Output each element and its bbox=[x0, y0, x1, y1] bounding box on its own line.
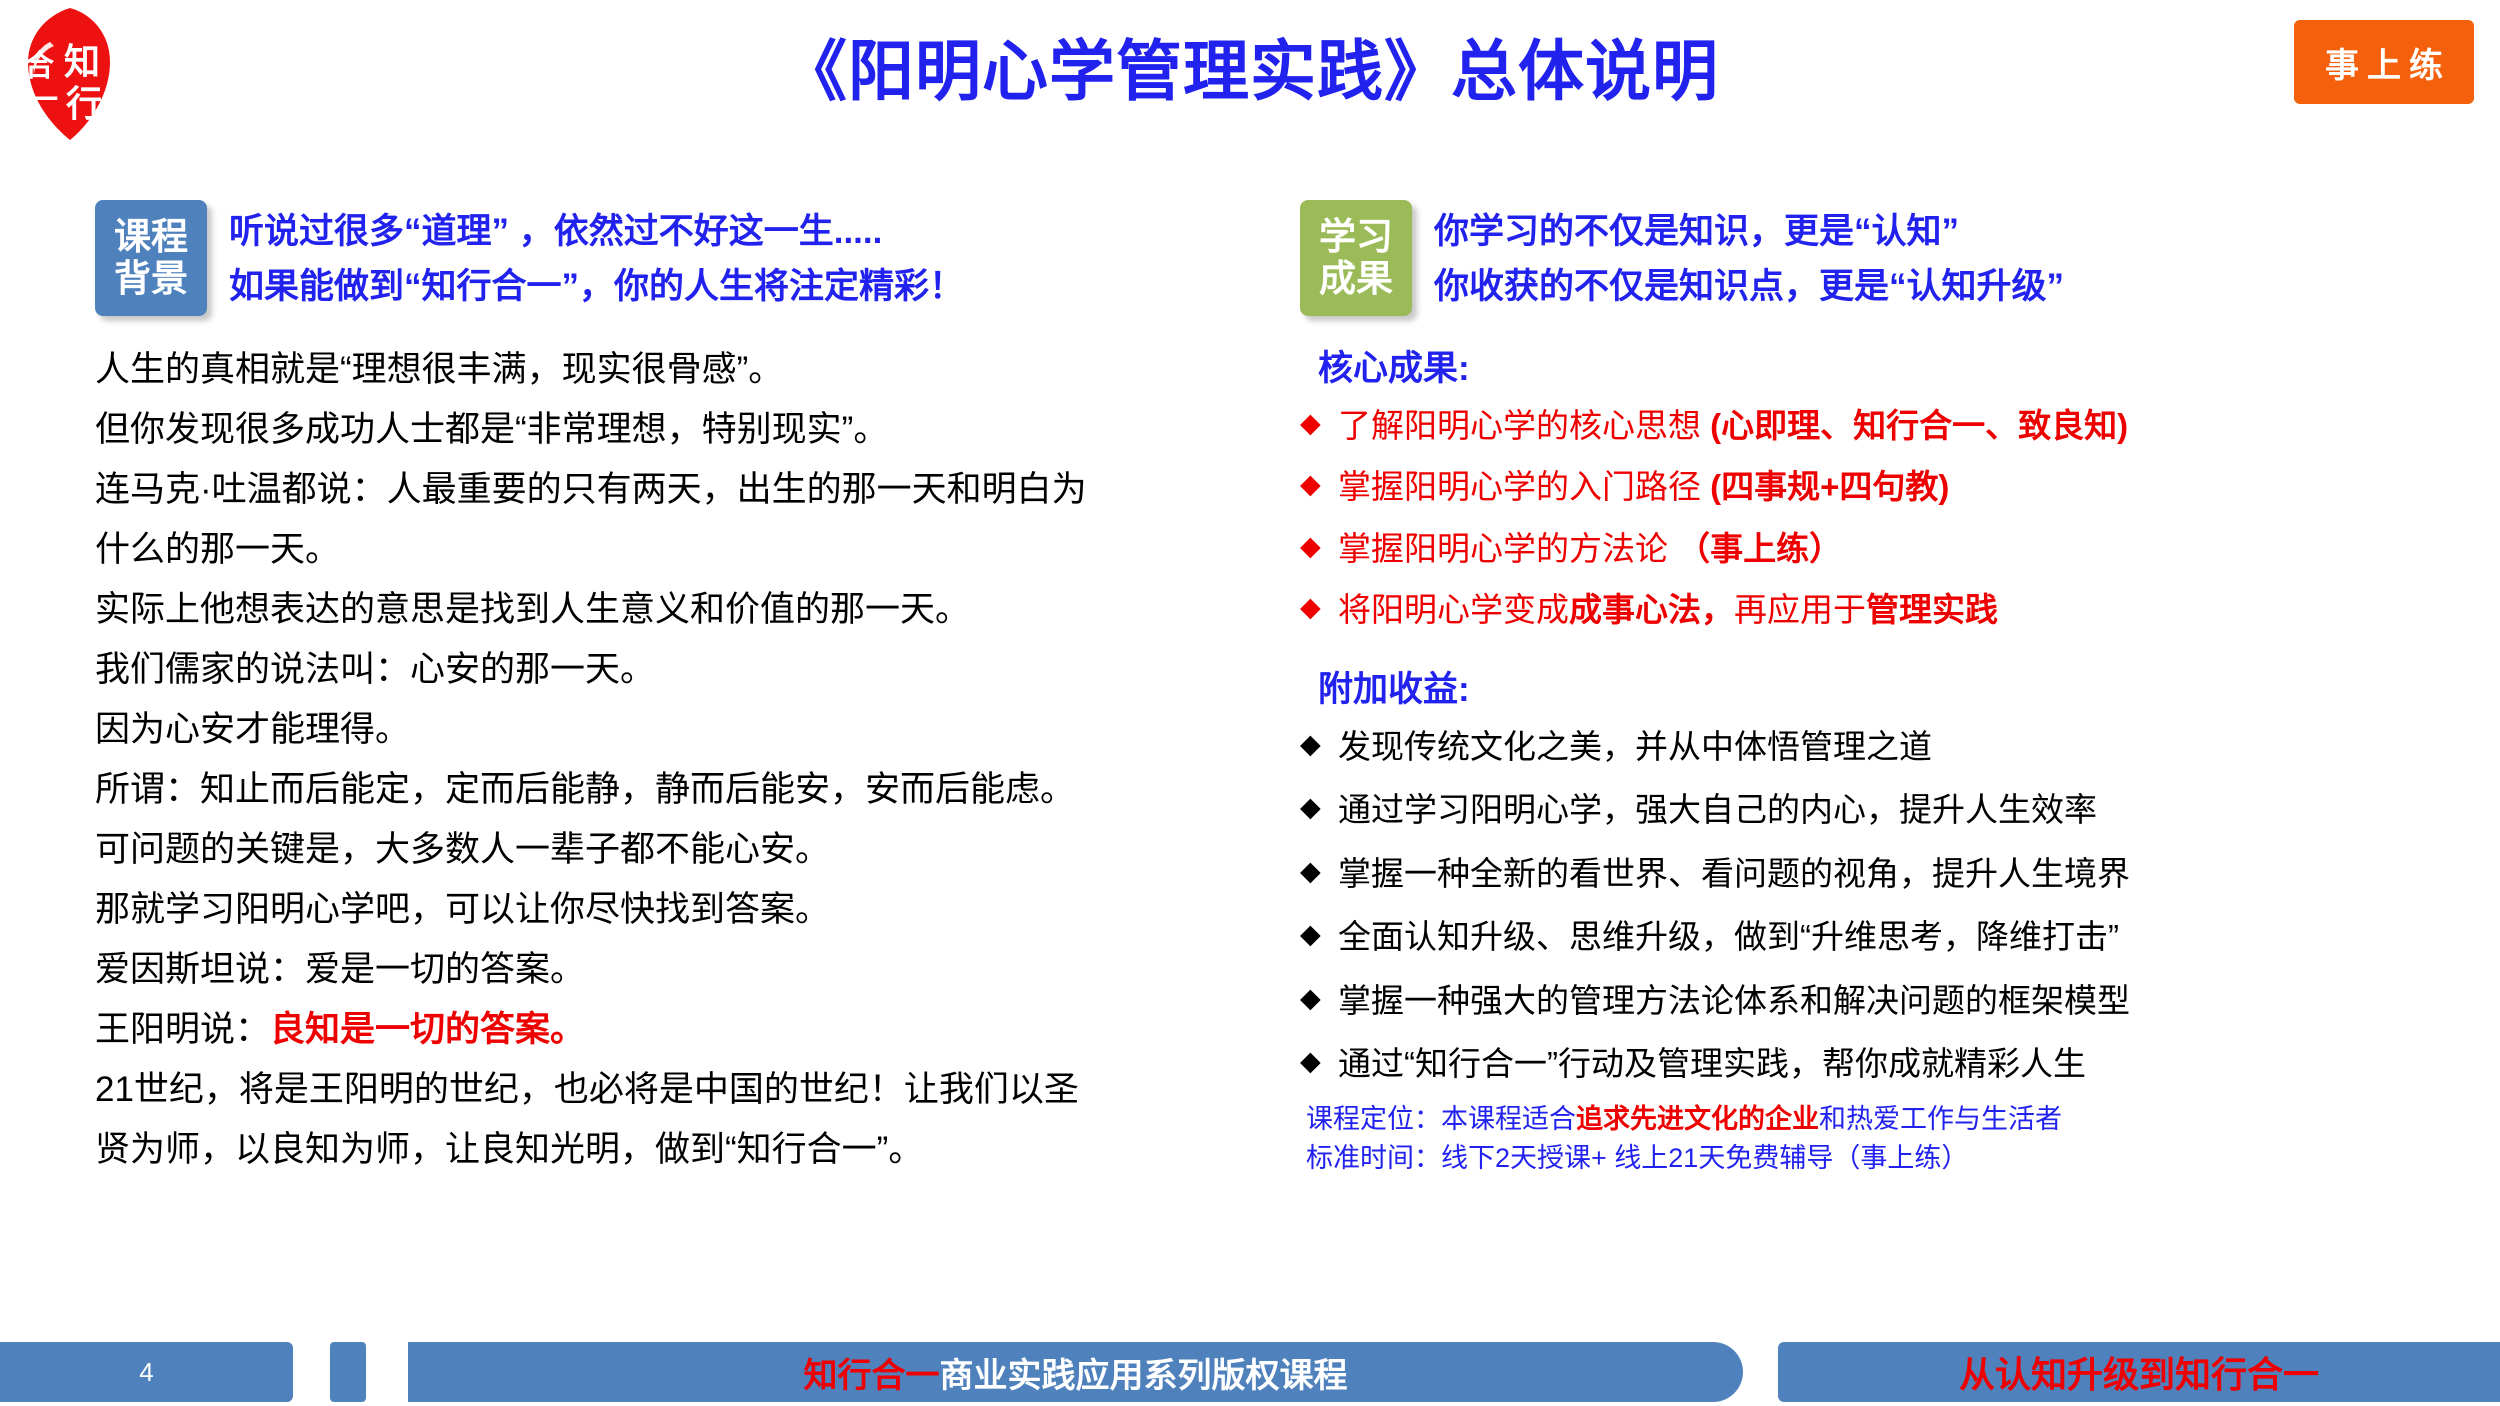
learning-outcome-header: 学习 成果 你学习的不仅是知识，更是“认知” 你收获的不仅是知识点，更是“认知升… bbox=[1300, 200, 2475, 316]
body-paragraph: 贤为师，以良知为师，让良知光明，做到“知行合一”。 bbox=[95, 1122, 1255, 1178]
body-paragraph: 那就学习阳明心学吧，可以让你尽快找到答案。 bbox=[95, 882, 1255, 938]
item-tail: 再应用于 bbox=[1734, 591, 1866, 628]
item-bold: (心即理、知行合一、致良知) bbox=[1710, 407, 2128, 444]
learning-outcome-headlines: 你学习的不仅是知识，更是“认知” 你收获的不仅是知识点，更是“认知升级” bbox=[1434, 200, 2064, 315]
core-outcome-heading: 核心成果: bbox=[1318, 340, 2475, 391]
list-item: ◆ 全面认知升级、思维升级，做到“升维思考，降维打击” bbox=[1300, 910, 2475, 963]
right-column: 学习 成果 你学习的不仅是知识，更是“认知” 你收获的不仅是知识点，更是“认知升… bbox=[1300, 200, 2475, 1178]
footer-main-red: 知行合一 bbox=[804, 1348, 940, 1397]
learning-outcome-tag: 学习 成果 bbox=[1300, 200, 1412, 316]
note-prefix: 课程定位：本课程适合 bbox=[1306, 1104, 1576, 1134]
list-item-text: 通过学习阳明心学，强大自己的内心，提升人生效率 bbox=[1338, 783, 2097, 836]
item-plain: 掌握阳明心学的方法论 bbox=[1338, 530, 1677, 567]
list-item: ◆ 了解阳明心学的核心思想 (心即理、知行合一、致良知) bbox=[1300, 399, 2475, 452]
footer-main-rest: 商业实践应用系列版权课程 bbox=[940, 1348, 1348, 1397]
list-item-text: 掌握一种强大的管理方法论体系和解决问题的框架模型 bbox=[1338, 974, 2130, 1027]
body-paragraph: 什么的那一天。 bbox=[95, 522, 1255, 578]
course-background-body: 人生的真相就是“理想很丰满，现实很骨感”。 但你发现很多成功人士都是“非常理想，… bbox=[95, 342, 1255, 1178]
body-paragraph: 爱因斯坦说：爱是一切的答案。 bbox=[95, 942, 1255, 998]
item-plain: 了解阳明心学的核心思想 bbox=[1338, 407, 1710, 444]
item-tail-bold: 管理实践 bbox=[1866, 591, 1998, 628]
shishanglian-badge: 事上练 bbox=[2294, 20, 2474, 104]
footer-slogan: 从认知升级到知行合一 bbox=[1778, 1342, 2500, 1402]
list-item: ◆ 掌握阳明心学的方法论 （事上练） bbox=[1300, 522, 2475, 575]
core-outcome-list: ◆ 了解阳明心学的核心思想 (心即理、知行合一、致良知) ◆ 掌握阳明心学的入门… bbox=[1300, 399, 2475, 637]
list-item: ◆ 掌握一种全新的看世界、看问题的视角，提升人生境界 bbox=[1300, 847, 2475, 900]
body-paragraph: 可问题的关键是，大多数人一辈子都不能心安。 bbox=[95, 822, 1255, 878]
quote-highlight: 良知是一切的答案。 bbox=[270, 1010, 585, 1049]
item-plain: 掌握阳明心学的入门路径 bbox=[1338, 468, 1710, 505]
tag-line-1: 学习 bbox=[1319, 216, 1393, 258]
footer-tick-bar bbox=[330, 1342, 366, 1402]
note-suffix: 和热爱工作与生活者 bbox=[1819, 1104, 2062, 1134]
body-paragraph: 但你发现很多成功人士都是“非常理想，特别现实”。 bbox=[95, 402, 1255, 458]
quote-prefix: 王阳明说： bbox=[95, 1010, 270, 1049]
diamond-bullet-icon: ◆ bbox=[1300, 1037, 1338, 1085]
tag-line-2: 背景 bbox=[114, 258, 188, 300]
left-column: 课程 背景 听说过很多“道理” ，依然过不好这一生..... 如果能做到“知行合… bbox=[95, 200, 1255, 1182]
list-item: ◆ 将阳明心学变成成事心法，再应用于管理实践 bbox=[1300, 583, 2475, 636]
slide-footer: 4 知行合一商业实践应用系列版权课程 从认知升级到知行合一 bbox=[0, 1332, 2500, 1406]
list-item-text: 全面认知升级、思维升级，做到“升维思考，降维打击” bbox=[1338, 910, 2119, 963]
diamond-bullet-icon: ◆ bbox=[1300, 974, 1338, 1022]
footer-course-series-label: 知行合一商业实践应用系列版权课程 bbox=[408, 1342, 1743, 1402]
tag-line-1: 课程 bbox=[114, 216, 188, 258]
item-bold: （事上练） bbox=[1677, 530, 1842, 567]
course-background-headlines: 听说过很多“道理” ，依然过不好这一生..... 如果能做到“知行合一”，你的人… bbox=[229, 200, 964, 315]
page-number: 4 bbox=[0, 1342, 293, 1402]
diamond-bullet-icon: ◆ bbox=[1300, 522, 1338, 570]
item-bold: 成事心法， bbox=[1569, 591, 1734, 628]
tag-line-2: 成果 bbox=[1319, 258, 1393, 300]
note-highlight: 追求先进文化的企业 bbox=[1576, 1104, 1819, 1134]
diamond-bullet-icon: ◆ bbox=[1300, 847, 1338, 895]
body-paragraph: 因为心安才能理得。 bbox=[95, 702, 1255, 758]
diamond-bullet-icon: ◆ bbox=[1300, 583, 1338, 631]
body-paragraph: 我们儒家的说法叫：心安的那一天。 bbox=[95, 642, 1255, 698]
list-item-text: 掌握阳明心学的方法论 （事上练） bbox=[1338, 522, 1842, 575]
course-background-tag: 课程 背景 bbox=[95, 200, 207, 316]
body-paragraph: 人生的真相就是“理想很丰满，现实很骨感”。 bbox=[95, 342, 1255, 398]
item-bold: (四事规+四句教) bbox=[1710, 468, 1949, 505]
headline-1: 听说过很多“道理” ，依然过不好这一生..... bbox=[229, 204, 964, 259]
headline-1: 你学习的不仅是知识，更是“认知” bbox=[1434, 204, 2064, 259]
extra-benefit-heading: 附加收益: bbox=[1318, 661, 2475, 712]
list-item-text: 掌握一种全新的看世界、看问题的视角，提升人生境界 bbox=[1338, 847, 2130, 900]
diamond-bullet-icon: ◆ bbox=[1300, 399, 1338, 447]
body-paragraph: 连马克·吐温都说：人最重要的只有两天，出生的那一天和明白为 bbox=[95, 462, 1255, 518]
list-item: ◆ 掌握阳明心学的入门路径 (四事规+四句教) bbox=[1300, 460, 2475, 513]
list-item: ◆ 掌握一种强大的管理方法论体系和解决问题的框架模型 bbox=[1300, 974, 2475, 1027]
item-plain: 将阳明心学变成 bbox=[1338, 591, 1569, 628]
course-positioning-note: 课程定位：本课程适合追求先进文化的企业和热爱工作与生活者 bbox=[1306, 1101, 2475, 1139]
headline-2: 如果能做到“知行合一”，你的人生将注定精彩！ bbox=[229, 259, 964, 314]
list-item: ◆ 发现传统文化之美，并从中体悟管理之道 bbox=[1300, 720, 2475, 773]
body-paragraph: 实际上他想表达的意思是找到人生意义和价值的那一天。 bbox=[95, 582, 1255, 638]
wangyangming-quote-line: 王阳明说：良知是一切的答案。 bbox=[95, 1002, 1255, 1058]
page-title: 《阳明心学管理实践》总体说明 bbox=[0, 18, 2500, 114]
headline-2: 你收获的不仅是知识点，更是“认知升级” bbox=[1434, 259, 2064, 314]
diamond-bullet-icon: ◆ bbox=[1300, 720, 1338, 768]
body-paragraph: 所谓：知止而后能定，定而后能静，静而后能安，安而后能虑。 bbox=[95, 762, 1255, 818]
diamond-bullet-icon: ◆ bbox=[1300, 910, 1338, 958]
standard-time-note: 标准时间：线下2天授课+ 线上21天免费辅导（事上练） bbox=[1306, 1140, 2475, 1178]
body-paragraph: 21世纪，将是王阳明的世纪，也必将是中国的世纪！让我们以圣 bbox=[95, 1062, 1255, 1118]
list-item-text: 掌握阳明心学的入门路径 (四事规+四句教) bbox=[1338, 460, 1949, 513]
list-item-text: 将阳明心学变成成事心法，再应用于管理实践 bbox=[1338, 583, 1998, 636]
list-item-text: 通过“知行合一”行动及管理实践，帮你成就精彩人生 bbox=[1338, 1037, 2086, 1090]
diamond-bullet-icon: ◆ bbox=[1300, 783, 1338, 831]
extra-benefit-list: ◆ 发现传统文化之美，并从中体悟管理之道 ◆ 通过学习阳明心学，强大自己的内心，… bbox=[1300, 720, 2475, 1091]
diamond-bullet-icon: ◆ bbox=[1300, 460, 1338, 508]
list-item-text: 了解阳明心学的核心思想 (心即理、知行合一、致良知) bbox=[1338, 399, 2128, 452]
list-item-text: 发现传统文化之美，并从中体悟管理之道 bbox=[1338, 720, 1932, 773]
course-background-header: 课程 背景 听说过很多“道理” ，依然过不好这一生..... 如果能做到“知行合… bbox=[95, 200, 1255, 316]
list-item: ◆ 通过学习阳明心学，强大自己的内心，提升人生效率 bbox=[1300, 783, 2475, 836]
list-item: ◆ 通过“知行合一”行动及管理实践，帮你成就精彩人生 bbox=[1300, 1037, 2475, 1090]
